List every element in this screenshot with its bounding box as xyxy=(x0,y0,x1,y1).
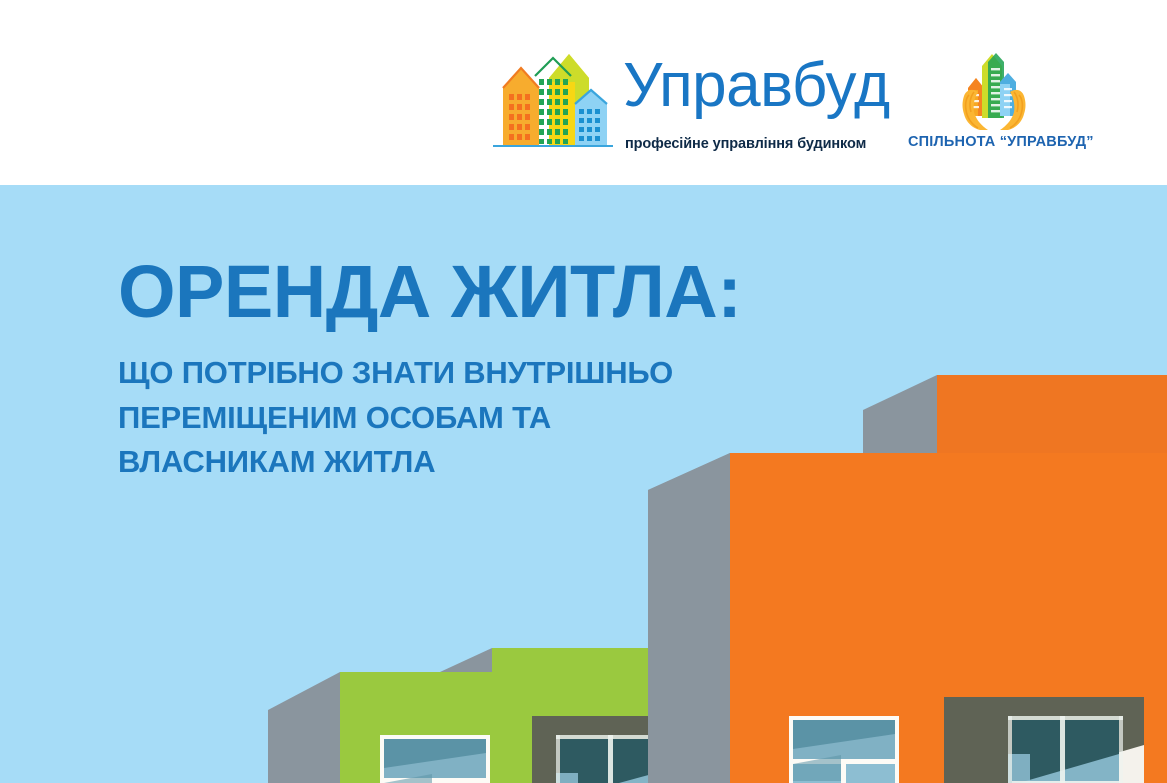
hero-section: ОРЕНДА ЖИТЛА: ЩО ПОТРІБНО ЗНАТИ ВНУТРІШН… xyxy=(0,185,1167,783)
hero-copy: ОРЕНДА ЖИТЛА: ЩО ПОТРІБНО ЗНАТИ ВНУТРІШН… xyxy=(118,255,858,485)
primary-logo-wordmark: Управбуд xyxy=(623,46,855,126)
poster-page: Управбуд професійне управління будинком xyxy=(0,0,1167,783)
header-bar: Управбуд професійне управління будинком xyxy=(0,0,1167,185)
page-subtitle: ЩО ПОТРІБНО ЗНАТИ ВНУТРІШНЬО ПЕРЕМІЩЕНИМ… xyxy=(118,351,738,485)
primary-logo-tagline: професійне управління будинком xyxy=(625,136,855,152)
page-title: ОРЕНДА ЖИТЛА: xyxy=(118,255,858,329)
secondary-logo[interactable]: СПІЛЬНОТА “УПРАВБУД” xyxy=(908,48,1080,154)
secondary-logo-caption: СПІЛЬНОТА “УПРАВБУД” xyxy=(908,134,1080,150)
buildings-icon xyxy=(487,46,619,156)
primary-logo[interactable]: Управбуд професійне управління будинком xyxy=(487,44,857,156)
hands-holding-buildings-icon xyxy=(938,48,1050,136)
